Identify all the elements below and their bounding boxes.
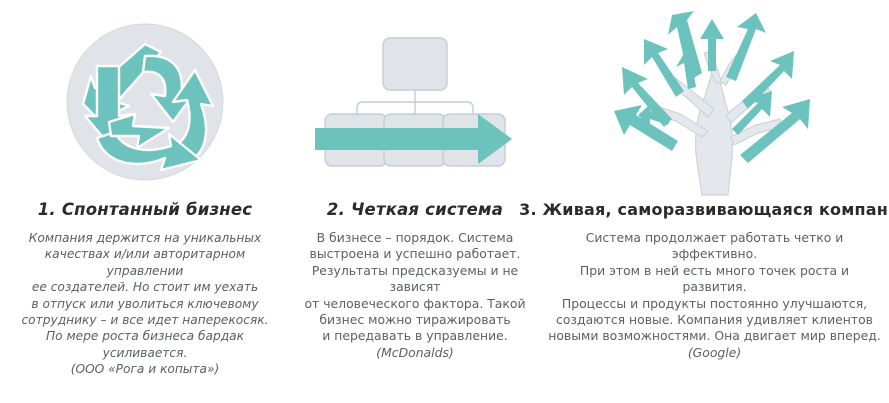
body-line: от человеческого фактора. Такой (296, 296, 534, 312)
body-line: выстроена и успешно работает. (296, 246, 534, 262)
body-line: По мере роста бизнеса бардак усиливается… (6, 328, 284, 361)
body-line: При этом в ней есть много точек роста и … (546, 263, 883, 296)
stage-heading: 2. Четкая система (323, 200, 507, 220)
body-line: Система продолжает работать четко и эффе… (546, 230, 883, 263)
stage-attribution: (ООО «Рога и копыта») (6, 361, 284, 377)
body-line: сотруднику – и все идет наперекосяк. (6, 312, 284, 328)
stage-heading: 1. Спонтанный бизнес (34, 200, 257, 220)
stage-column-clear-system: 2. Четкая система В бизнесе – порядок. С… (290, 0, 540, 403)
body-line: и передавать в управление. (296, 328, 534, 344)
org-chart-with-arrow-icon (290, 0, 540, 200)
body-line: Результаты предсказуемы и не зависят (296, 263, 534, 296)
body-line: В бизнесе – порядок. Система (296, 230, 534, 246)
body-line: новыми возможностями. Она двигает мир вп… (546, 328, 883, 344)
stage-attribution: (McDonalds) (296, 345, 534, 361)
body-line: Компания держится на уникальных (6, 230, 284, 246)
growing-tree-arrows-icon (540, 0, 889, 200)
stage-body-text: В бизнесе – порядок. Система выстроена и… (290, 220, 540, 361)
stage-heading: 3. Живая, саморазвивающаяся компания (515, 200, 889, 220)
body-line: качествах и/или авторитарном управлении (6, 246, 284, 279)
stage-attribution: (Google) (546, 345, 883, 361)
stage-body-text: Система продолжает работать четко и эффе… (540, 220, 889, 361)
body-line: создаются новые. Компания удивляет клиен… (546, 312, 883, 328)
stages-container: 1. Спонтанный бизнес Компания держится н… (0, 0, 889, 403)
stage-column-spontaneous-business: 1. Спонтанный бизнес Компания держится н… (0, 0, 290, 403)
body-line: Процессы и продукты постоянно улучшаются… (546, 296, 883, 312)
stage-body-text: Компания держится на уникальных качества… (0, 220, 290, 378)
chaotic-circular-arrows-icon (0, 0, 290, 200)
body-line: ее создателей. Но стоит им уехать (6, 279, 284, 295)
body-line: бизнес можно тиражировать (296, 312, 534, 328)
stage-column-living-company: 3. Живая, саморазвивающаяся компания Сис… (540, 0, 889, 403)
body-line: в отпуск или уволиться ключевому (6, 296, 284, 312)
